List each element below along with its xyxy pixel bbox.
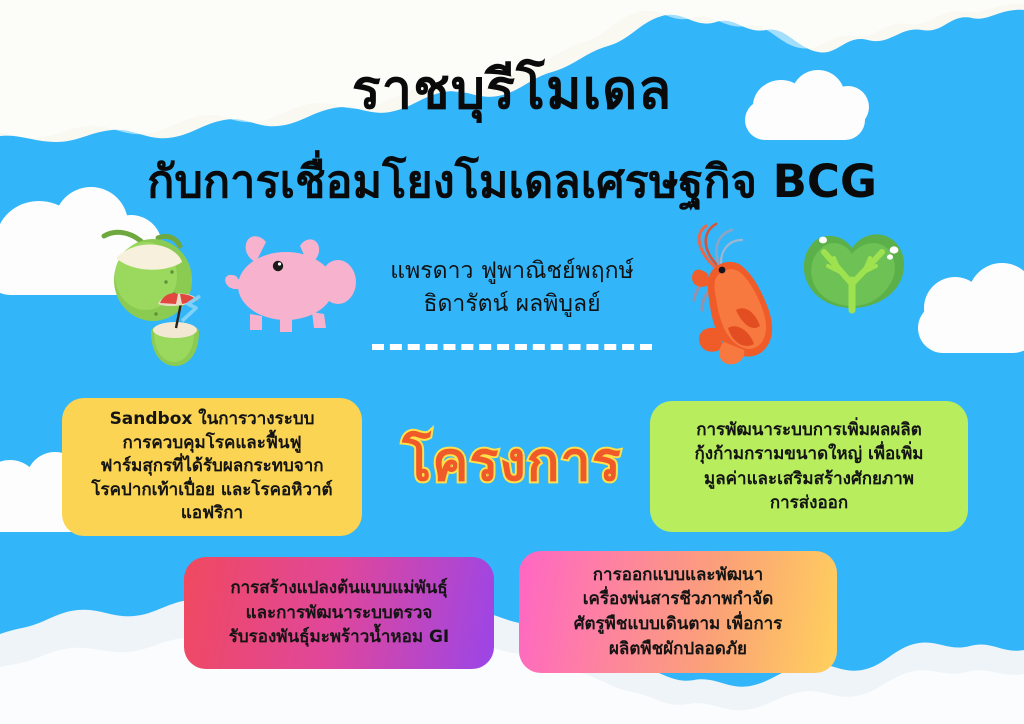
- poster-title-line1: ราชบุรีโมเดล: [0, 62, 1024, 119]
- poster-title-line2: กับการเชื่อมโยงโมเดลเศรษฐกิจ BCG: [0, 158, 1024, 205]
- torn-paper-bottom-edge: [0, 554, 1024, 724]
- centre-heading: โครงการ: [0, 418, 1024, 504]
- project-card-sprayer[interactable]: การออกแบบและพัฒนา เครื่องพ่นสารชีวภาพกำจ…: [519, 551, 837, 673]
- poster-canvas: ราชบุรีโมเดล กับการเชื่อมโยงโมเดลเศรษฐกิ…: [0, 0, 1024, 724]
- author-list: แพรดาว ฟูพาณิชย์พฤกษ์ ธิดารัตน์ ผลพิบูลย…: [0, 255, 1024, 322]
- project-card-coconut[interactable]: การสร้างแปลงต้นแบบแม่พันธุ์ และการพัฒนาร…: [184, 557, 494, 669]
- project-card-sprayer-text: การออกแบบและพัฒนา เครื่องพ่นสารชีวภาพกำจ…: [529, 563, 827, 662]
- author-name-1: แพรดาว ฟูพาณิชย์พฤกษ์: [0, 255, 1024, 288]
- dashed-divider: [372, 344, 652, 350]
- project-card-coconut-text: การสร้างแปลงต้นแบบแม่พันธุ์ และการพัฒนาร…: [194, 576, 484, 650]
- author-name-2: ธิดารัตน์ ผลพิบูลย์: [0, 288, 1024, 321]
